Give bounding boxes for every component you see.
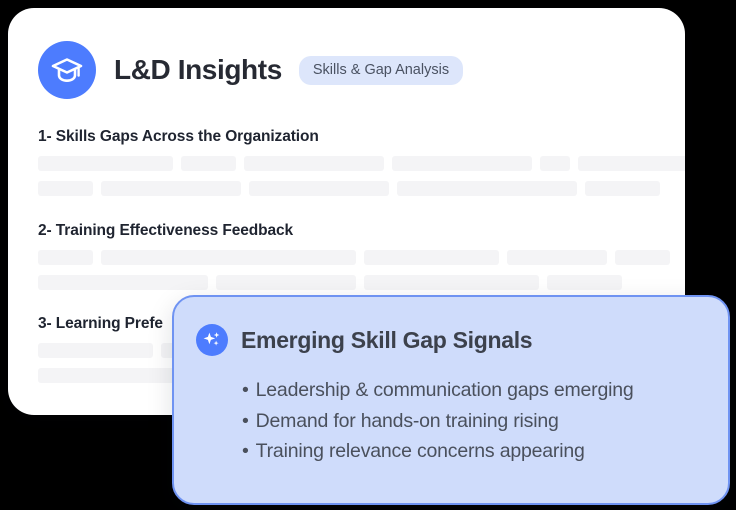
bullet-marker: • <box>242 379 249 401</box>
skeleton-bar <box>392 156 532 171</box>
bullet-marker: • <box>242 440 249 462</box>
skeleton-bar <box>101 250 356 265</box>
skeleton-bar <box>38 343 153 358</box>
skeleton-bar <box>181 156 236 171</box>
graduation-cap-icon <box>38 41 96 99</box>
skeleton-bar <box>216 275 356 290</box>
list-item-label: Training relevance concerns appearing <box>256 440 585 462</box>
section-training-effectiveness: 2- Training Effectiveness Feedback <box>38 222 670 290</box>
skeleton-row <box>38 250 670 265</box>
skeleton-bar <box>38 181 93 196</box>
bullet-marker: • <box>242 410 249 432</box>
sparkles-icon <box>196 324 228 356</box>
callout-header: Emerging Skill Gap Signals <box>196 324 532 356</box>
emerging-signals-callout: Emerging Skill Gap Signals •Leadership &… <box>172 295 730 505</box>
list-item-label: Demand for hands-on training rising <box>256 410 559 432</box>
skeleton-bar <box>244 156 384 171</box>
list-item: •Training relevance concerns appearing <box>242 436 634 467</box>
skeleton-bar <box>507 250 607 265</box>
skeleton-row <box>38 156 685 171</box>
skeleton-bar <box>547 275 622 290</box>
list-item: •Demand for hands-on training rising <box>242 406 634 437</box>
signals-list: •Leadership & communication gaps emergin… <box>242 375 634 467</box>
status-badge: Skills & Gap Analysis <box>299 56 463 85</box>
section-skills-gaps: 1- Skills Gaps Across the Organization <box>38 128 685 196</box>
skeleton-bar <box>364 275 539 290</box>
skeleton-row <box>38 181 685 196</box>
page-title: L&D Insights <box>114 54 282 86</box>
section-title: 1- Skills Gaps Across the Organization <box>38 128 685 146</box>
skeleton-bar <box>38 275 208 290</box>
skeleton-row <box>38 275 670 290</box>
skeleton-bar <box>540 156 570 171</box>
card-header: L&D Insights Skills & Gap Analysis <box>38 41 463 99</box>
list-item-label: Leadership & communication gaps emerging <box>256 379 634 401</box>
skeleton-bar <box>615 250 670 265</box>
skeleton-bar <box>38 250 93 265</box>
skeleton-bar <box>397 181 577 196</box>
section-title: 2- Training Effectiveness Feedback <box>38 222 670 240</box>
skeleton-bar <box>585 181 660 196</box>
skeleton-bar <box>578 156 685 171</box>
callout-title: Emerging Skill Gap Signals <box>241 327 532 354</box>
skeleton-bar <box>249 181 389 196</box>
skeleton-bar <box>38 156 173 171</box>
skeleton-bar <box>101 181 241 196</box>
skeleton-bar <box>364 250 499 265</box>
list-item: •Leadership & communication gaps emergin… <box>242 375 634 406</box>
